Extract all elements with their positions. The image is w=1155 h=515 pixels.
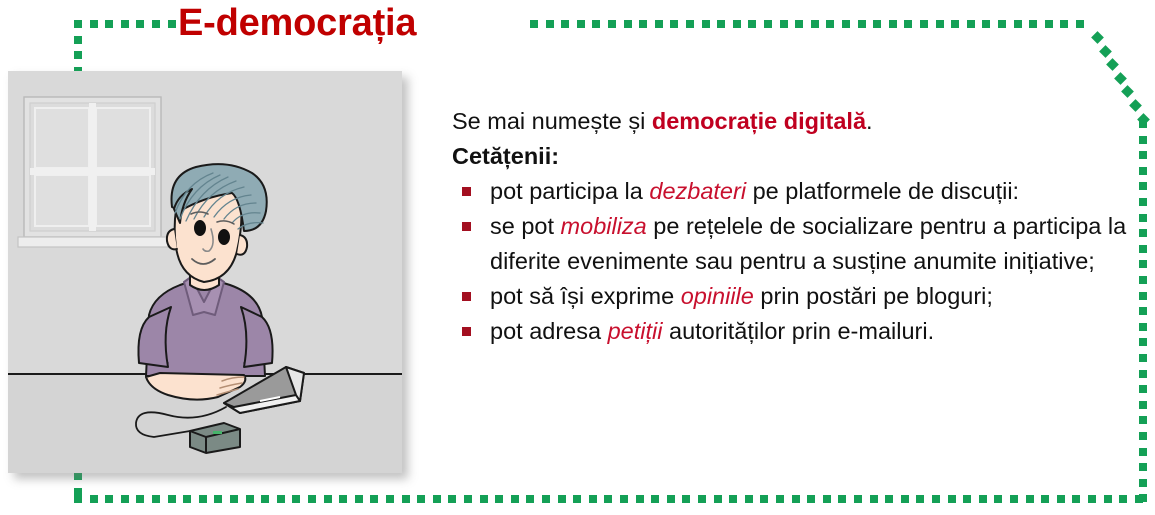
frame-dot: [577, 20, 585, 28]
frame-dot: [370, 495, 378, 503]
frame-dot: [480, 495, 488, 503]
frame-dot: [90, 495, 98, 503]
frame-dot: [542, 495, 550, 503]
frame-dot: [745, 495, 753, 503]
frame-dot: [230, 495, 238, 503]
frame-dot: [1088, 495, 1096, 503]
frame-dot: [733, 20, 741, 28]
frame-dot: [308, 495, 316, 503]
frame-dot: [655, 20, 663, 28]
frame-dot: [717, 20, 725, 28]
frame-dot: [1057, 495, 1065, 503]
intro-prefix: Se mai numește și: [452, 108, 652, 134]
frame-dot: [526, 495, 534, 503]
frame-dot: [1139, 448, 1147, 456]
frame-dot: [636, 495, 644, 503]
frame-dot: [932, 495, 940, 503]
frame-dot: [667, 495, 675, 503]
frame-dot: [168, 20, 176, 28]
bullet-opiniile-text: pot să își exprime opiniile prin postări…: [490, 279, 1142, 314]
frame-dot: [729, 495, 737, 503]
frame-dot: [339, 495, 347, 503]
frame-dot: [464, 495, 472, 503]
frame-dot: [904, 20, 912, 28]
frame-dot: [998, 20, 1006, 28]
frame-dot: [1104, 495, 1112, 503]
frame-dot: [639, 20, 647, 28]
bullet-square-icon: [462, 222, 471, 231]
frame-dot: [1045, 20, 1053, 28]
frame-dot: [967, 20, 975, 28]
frame-dot: [780, 20, 788, 28]
frame-dot: [246, 495, 254, 503]
illustration-panel: [8, 71, 402, 473]
frame-dot: [74, 51, 82, 59]
frame-dot: [168, 495, 176, 503]
frame-dot: [854, 495, 862, 503]
frame-dot: [670, 20, 678, 28]
frame-dot: [1014, 20, 1022, 28]
intro-line: Se mai numește și democrație digitală.: [452, 104, 1142, 139]
frame-dot: [1114, 72, 1127, 85]
frame-dot: [433, 495, 441, 503]
frame-dot: [561, 20, 569, 28]
frame-dot: [324, 495, 332, 503]
frame-dot: [1076, 20, 1084, 28]
frame-dot: [682, 495, 690, 503]
frame-dot: [1099, 45, 1112, 58]
frame-dot: [901, 495, 909, 503]
frame-dot: [795, 20, 803, 28]
frame-dot: [951, 20, 959, 28]
subheading: Cetățenii:: [452, 139, 1142, 174]
frame-dot: [277, 495, 285, 503]
bullet-square-icon: [462, 292, 471, 301]
frame-dot: [714, 495, 722, 503]
intro-emphasis: democrație digitală: [652, 108, 866, 134]
frame-dot: [546, 20, 554, 28]
bullet-list: pot participa la dezbateri pe platformel…: [452, 174, 1142, 349]
frame-dot: [121, 495, 129, 503]
frame-dot: [417, 495, 425, 503]
frame-dot: [355, 495, 363, 503]
bullet-square-icon: [462, 187, 471, 196]
frame-dot: [1135, 495, 1143, 503]
frame-dot: [74, 488, 82, 496]
page-title: E-democrația: [178, 2, 416, 45]
frame-dot: [214, 495, 222, 503]
frame-dot: [105, 20, 113, 28]
frame-dot: [1139, 463, 1147, 471]
frame-dot: [1029, 20, 1037, 28]
frame-dot: [152, 495, 160, 503]
left-eye: [194, 220, 206, 236]
frame-dot: [592, 20, 600, 28]
frame-dot: [136, 20, 144, 28]
frame-dot: [1139, 401, 1147, 409]
frame-dot: [936, 20, 944, 28]
frame-dot: [1139, 370, 1147, 378]
frame-dot: [698, 495, 706, 503]
frame-dot: [90, 20, 98, 28]
frame-dot: [823, 495, 831, 503]
frame-dot: [858, 20, 866, 28]
frame-dot: [826, 20, 834, 28]
frame-dot: [1041, 495, 1049, 503]
frame-dot: [121, 20, 129, 28]
frame-dot: [764, 20, 772, 28]
frame-dot: [885, 495, 893, 503]
frame-dot: [1139, 432, 1147, 440]
content-text-block: Se mai numește și democrație digitală. C…: [452, 104, 1142, 349]
frame-dot: [748, 20, 756, 28]
frame-dot: [558, 495, 566, 503]
frame-dot: [916, 495, 924, 503]
frame-dot: [136, 495, 144, 503]
frame-dot: [873, 20, 881, 28]
frame-dot: [74, 495, 82, 503]
frame-dot: [183, 495, 191, 503]
bullet-dezbateri-text: pot participa la dezbateri pe platformel…: [490, 174, 1142, 209]
frame-dot: [495, 495, 503, 503]
frame-dot: [994, 495, 1002, 503]
frame-dot: [1091, 31, 1104, 44]
frame-dot: [979, 495, 987, 503]
intro-suffix: .: [866, 108, 873, 134]
frame-dot: [511, 495, 519, 503]
frame-dot: [1139, 385, 1147, 393]
frame-dot: [261, 495, 269, 503]
bullet-petitii-text: pot adresa petiții autorităților prin e-…: [490, 314, 1142, 349]
frame-dot: [74, 472, 82, 480]
frame-dot: [589, 495, 597, 503]
frame-dot: [530, 20, 538, 28]
frame-dot: [608, 20, 616, 28]
frame-dot: [624, 20, 632, 28]
frame-dot: [760, 495, 768, 503]
window-icon: [18, 97, 168, 247]
frame-dot: [1139, 479, 1147, 487]
frame-dot: [386, 495, 394, 503]
frame-dot: [686, 20, 694, 28]
list-item: pot să își exprime opiniile prin postări…: [452, 279, 1142, 314]
frame-dot: [448, 495, 456, 503]
frame-dot: [402, 495, 410, 503]
right-eye: [218, 229, 230, 245]
frame-dot: [620, 495, 628, 503]
person-at-computer-illustration: [8, 71, 402, 473]
frame-dot: [702, 20, 710, 28]
frame-dot: [199, 495, 207, 503]
list-item: pot participa la dezbateri pe platformel…: [452, 174, 1142, 209]
frame-dot: [105, 495, 113, 503]
frame-dot: [948, 495, 956, 503]
frame-dot: [838, 495, 846, 503]
frame-dot: [74, 36, 82, 44]
frame-dot: [152, 20, 160, 28]
frame-dot: [842, 20, 850, 28]
frame-dot: [776, 495, 784, 503]
frame-dot: [573, 495, 581, 503]
frame-dot: [604, 495, 612, 503]
frame-dot: [982, 20, 990, 28]
frame-dot: [1010, 495, 1018, 503]
frame-dot: [1060, 20, 1068, 28]
frame-dot: [1106, 58, 1119, 71]
bullet-mobiliza-text: se pot mobiliza pe rețelele de socializa…: [490, 209, 1142, 279]
list-item: se pot mobiliza pe rețelele de socializa…: [452, 209, 1142, 279]
frame-dot: [1072, 495, 1080, 503]
bullet-square-icon: [462, 327, 471, 336]
frame-dot: [1026, 495, 1034, 503]
frame-dot: [292, 495, 300, 503]
frame-dot: [1139, 416, 1147, 424]
frame-dot: [74, 20, 82, 28]
frame-dot: [811, 20, 819, 28]
frame-dot: [870, 495, 878, 503]
frame-dot: [807, 495, 815, 503]
frame-dot: [963, 495, 971, 503]
frame-dot: [1139, 354, 1147, 362]
frame-dot: [1121, 85, 1134, 98]
frame-dot: [792, 495, 800, 503]
frame-dot: [889, 20, 897, 28]
frame-dot: [651, 495, 659, 503]
list-item: pot adresa petiții autorităților prin e-…: [452, 314, 1142, 349]
router-led: [213, 431, 222, 434]
frame-dot: [920, 20, 928, 28]
frame-dot: [1119, 495, 1127, 503]
